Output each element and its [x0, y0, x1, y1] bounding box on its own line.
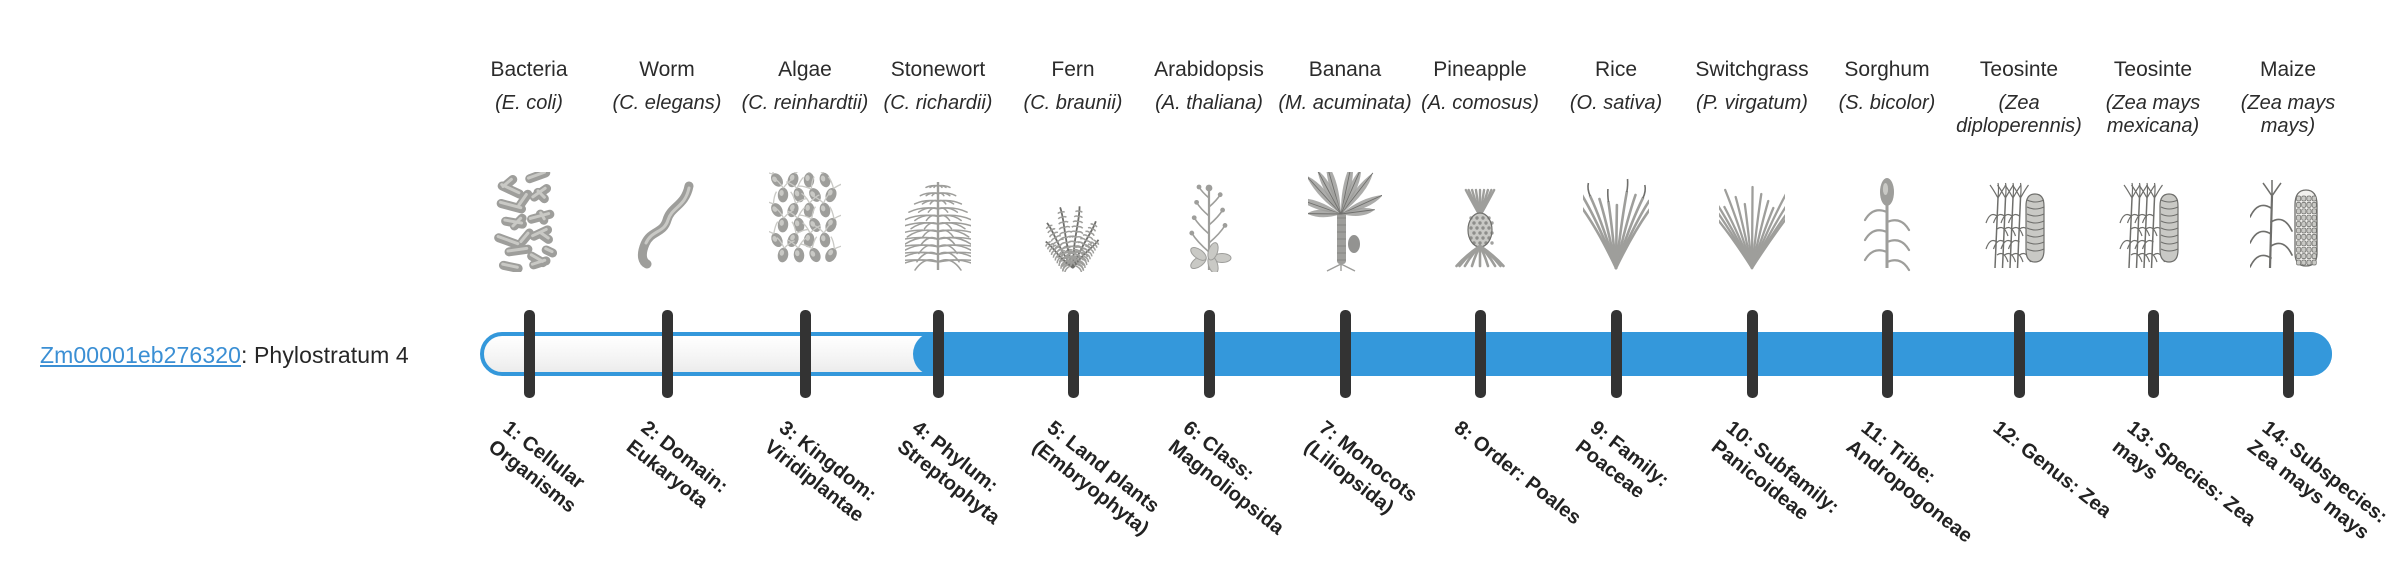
species-scientific-name: (E. coli): [456, 92, 602, 115]
phylostratum-text: Phylostratum 4: [254, 342, 409, 368]
species-common-name: Rice: [1547, 58, 1685, 82]
species-scientific-name: (O. sativa): [1543, 92, 1689, 115]
species-column-arabidopsis-6: Arabidopsis(A. thaliana): [1140, 0, 1278, 300]
bacteria-icon: [460, 168, 598, 272]
species-column-rice-9: Rice(O. sativa): [1547, 0, 1685, 300]
stonewort-icon: [869, 168, 1007, 272]
species-common-name: Sorghum: [1818, 58, 1956, 82]
species-scientific-name: (Zea mays mexicana): [2080, 92, 2226, 138]
sorghum-icon: [1818, 168, 1956, 272]
species-common-name: Switchgrass: [1683, 58, 1821, 82]
phylostratum-figure: Zm00001eb276320: Phylostratum 4 Bacteria…: [0, 0, 2400, 580]
species-common-name: Teosinte: [2084, 58, 2222, 82]
teosinte-icon: [1950, 168, 2088, 272]
switchgrass-icon: [1683, 168, 1821, 272]
species-scientific-name: (A. thaliana): [1136, 92, 1282, 115]
species-common-name: Fern: [1004, 58, 1142, 82]
species-column-algae-3: Algae(C. reinhardtii): [736, 0, 874, 300]
species-common-name: Arabidopsis: [1140, 58, 1278, 82]
species-scientific-name: (C. reinhardtii): [732, 92, 878, 115]
rice-icon: [1547, 168, 1685, 272]
species-scientific-name: (C. elegans): [594, 92, 740, 115]
species-column-sorghum-11: Sorghum(S. bicolor): [1818, 0, 1956, 300]
worm-icon: [598, 168, 736, 272]
species-common-name: Bacteria: [460, 58, 598, 82]
species-common-name: Banana: [1276, 58, 1414, 82]
species-scientific-name: (P. virgatum): [1679, 92, 1825, 115]
arabidopsis-icon: [1140, 168, 1278, 272]
species-column-teosinte-13: Teosinte(Zea mays mexicana): [2084, 0, 2222, 300]
species-scientific-name: (C. richardii): [865, 92, 1011, 115]
gene-label: Zm00001eb276320: Phylostratum 4: [40, 342, 409, 369]
gene-id-link[interactable]: Zm00001eb276320: [40, 342, 241, 368]
species-column-teosinte-12: Teosinte(Zea diploperennis): [1950, 0, 2088, 300]
species-column-maize-14: Maize(Zea mays mays): [2219, 0, 2357, 300]
species-column-worm-2: Worm(C. elegans): [598, 0, 736, 300]
teosinte-icon: [2084, 168, 2222, 272]
species-common-name: Teosinte: [1950, 58, 2088, 82]
species-columns: Bacteria(E. coli)Worm(C. elegans)Algae(C…: [480, 0, 2330, 580]
species-common-name: Worm: [598, 58, 736, 82]
banana-icon: [1276, 168, 1414, 272]
species-scientific-name: (Zea diploperennis): [1946, 92, 2092, 138]
species-column-pineapple-8: Pineapple(A. comosus): [1411, 0, 1549, 300]
species-scientific-name: (S. bicolor): [1814, 92, 1960, 115]
species-common-name: Stonewort: [869, 58, 1007, 82]
species-column-bacteria-1: Bacteria(E. coli): [460, 0, 598, 300]
species-scientific-name: (Zea mays mays): [2215, 92, 2361, 138]
species-common-name: Pineapple: [1411, 58, 1549, 82]
species-scientific-name: (C. braunii): [1000, 92, 1146, 115]
species-column-banana-7: Banana(M. acuminata): [1276, 0, 1414, 300]
species-scientific-name: (A. comosus): [1407, 92, 1553, 115]
species-scientific-name: (M. acuminata): [1272, 92, 1418, 115]
species-column-stonewort-4: Stonewort(C. richardii): [869, 0, 1007, 300]
species-common-name: Algae: [736, 58, 874, 82]
species-common-name: Maize: [2219, 58, 2357, 82]
species-column-switchgrass-10: Switchgrass(P. virgatum): [1683, 0, 1821, 300]
species-column-fern-5: Fern(C. braunii): [1004, 0, 1142, 300]
algae-icon: [736, 168, 874, 272]
fern-icon: [1004, 168, 1142, 272]
maize-icon: [2219, 168, 2357, 272]
gene-separator: :: [241, 342, 254, 368]
pineapple-icon: [1411, 168, 1549, 272]
